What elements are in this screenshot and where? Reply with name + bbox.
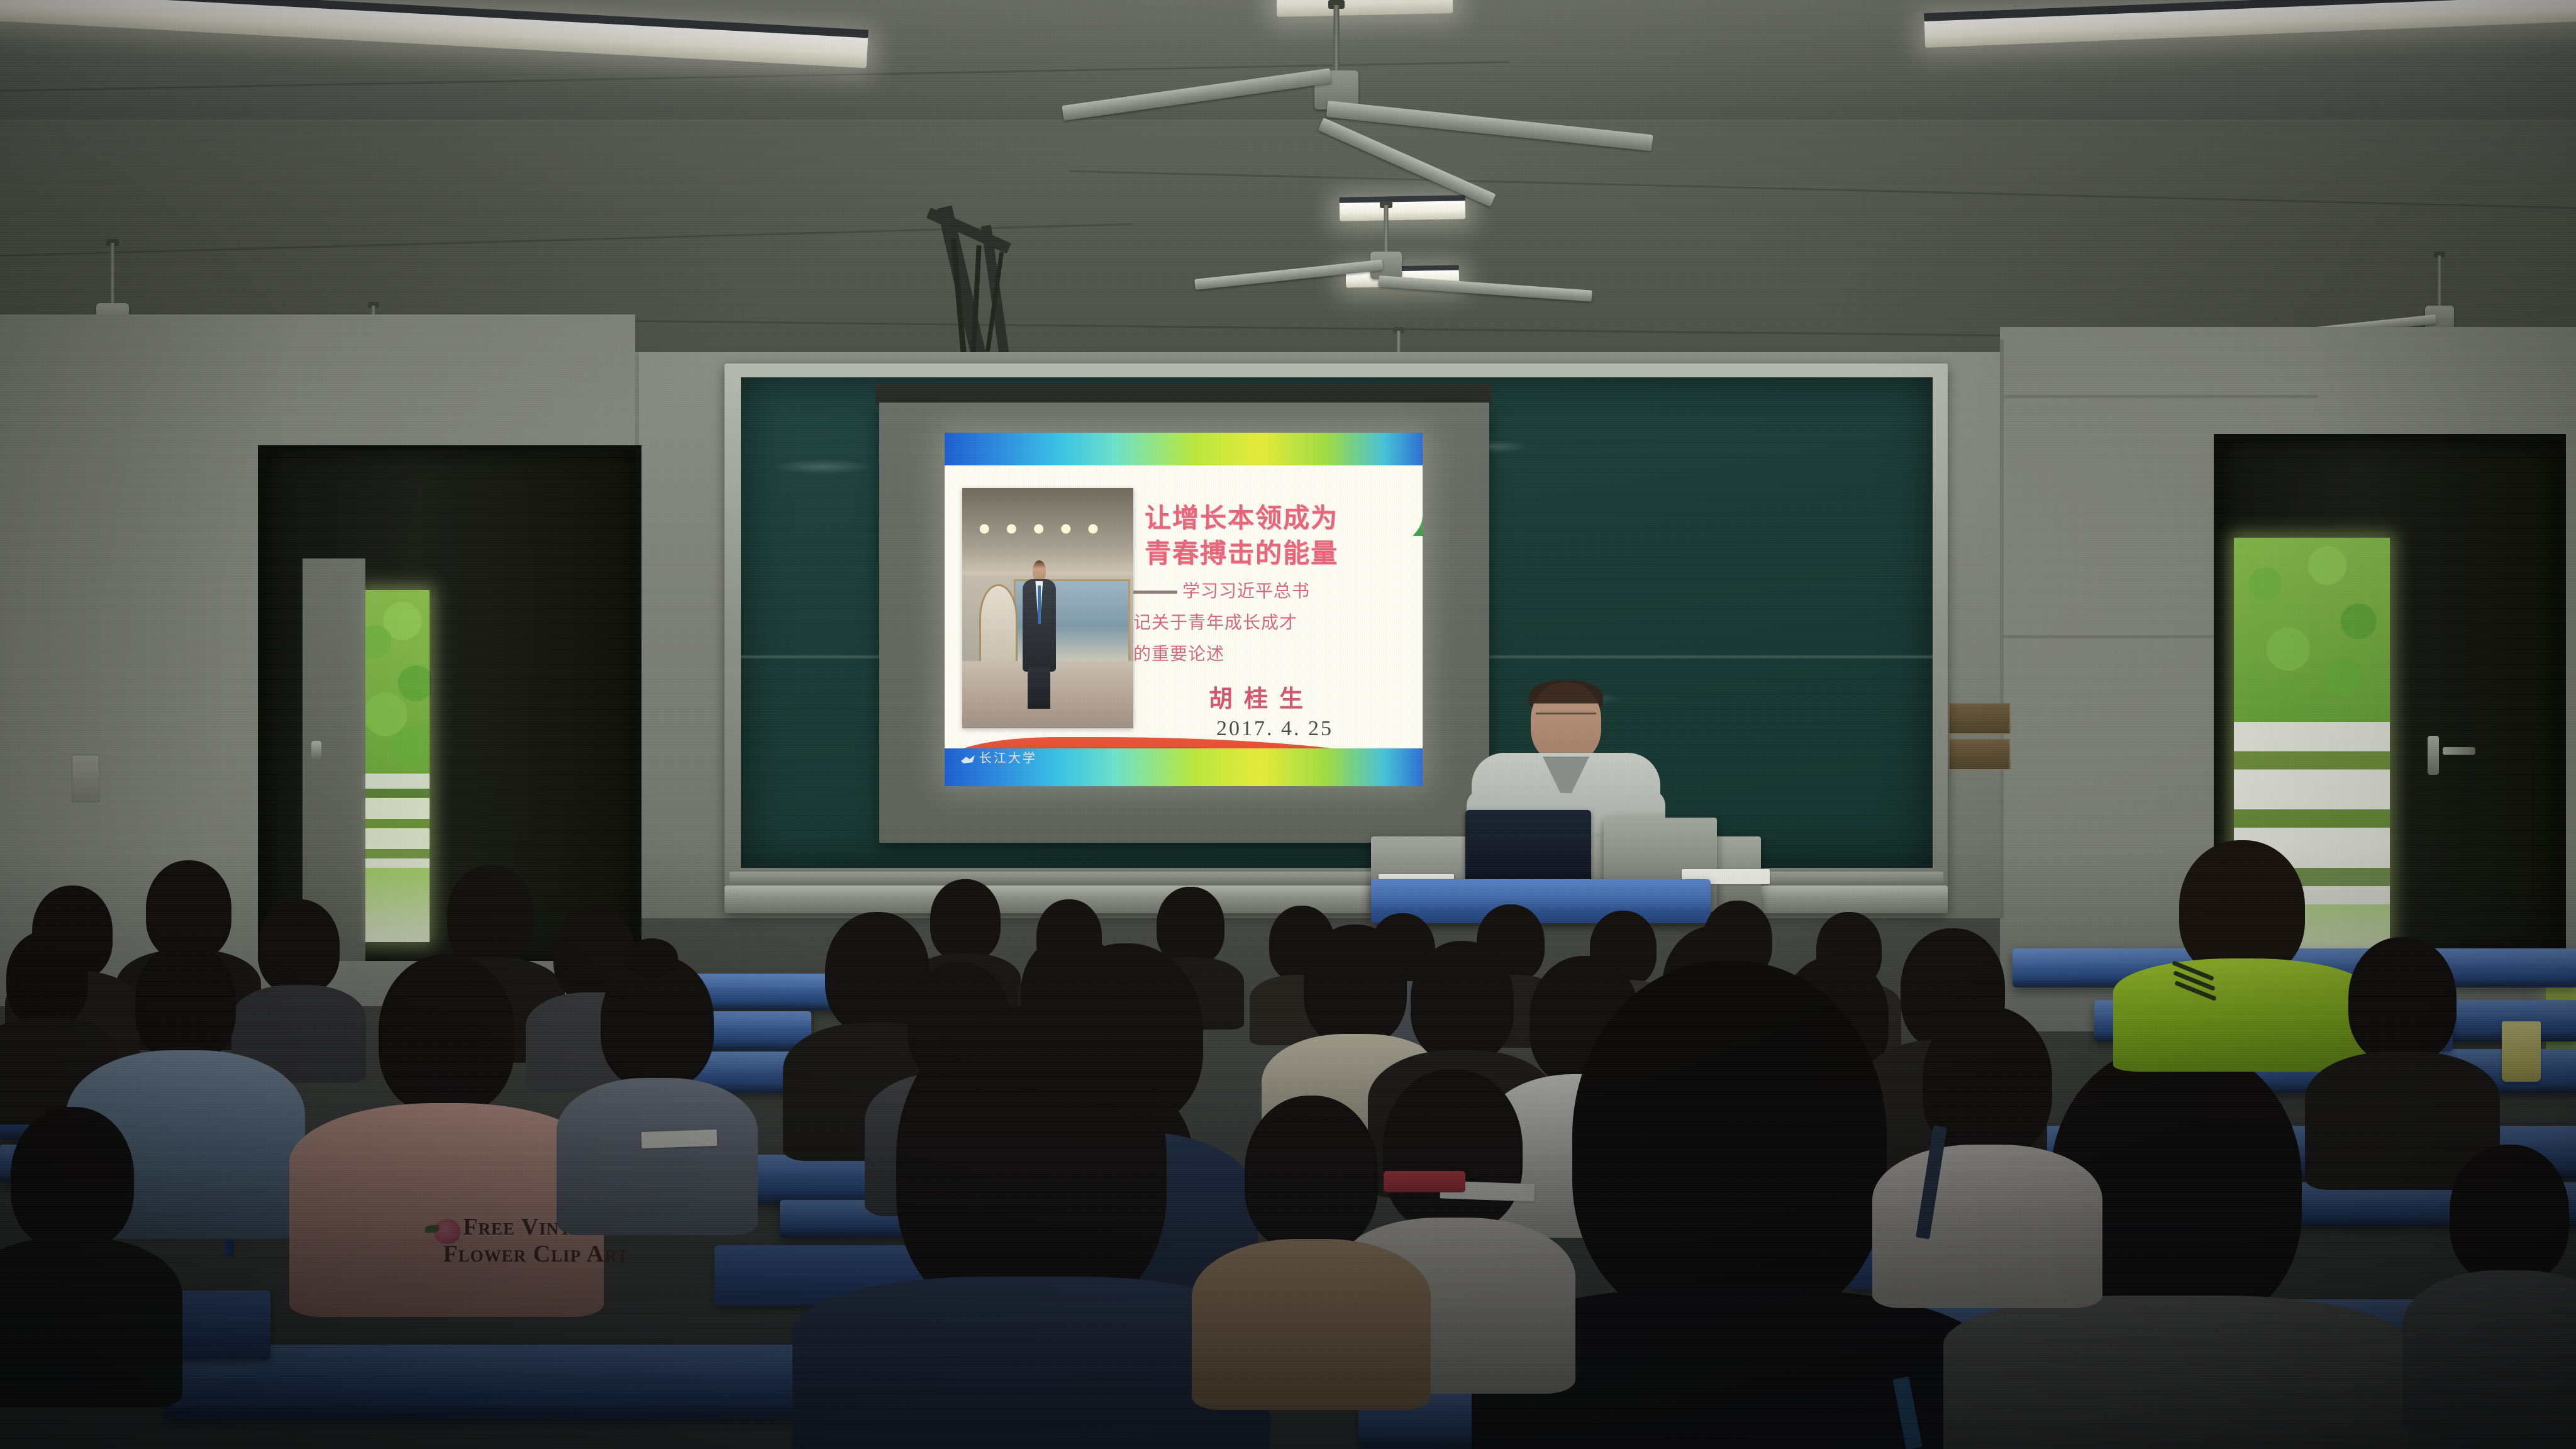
- slide-title-line1: 让增长本领成为: [1145, 503, 1338, 534]
- door-handle-icon[interactable]: [2428, 736, 2439, 775]
- em-dash-rule: [1133, 591, 1177, 594]
- slide-photo-figure: [1020, 560, 1058, 709]
- presenter-laptop[interactable]: [1465, 810, 1591, 884]
- lecture-hall-photo: · · · ·: [0, 0, 2576, 1449]
- presentation-slide: 让增长本领成为 青春搏击的能量 ——学习习近平总书学习习近平总书 记关于青年成长…: [945, 433, 1423, 786]
- slide-date: 2017. 4. 25: [1216, 717, 1333, 741]
- slide-subtitle-line1: ——学习习近平总书学习习近平总书: [1133, 579, 1310, 604]
- student: [591, 956, 723, 1207]
- slide-author: 胡桂生: [1209, 679, 1314, 714]
- wall-plaque: [1948, 703, 2011, 735]
- glasses-icon: [1536, 713, 1596, 726]
- yellow-cup[interactable]: [2502, 1021, 2541, 1082]
- student-foreground: [1535, 961, 1924, 1449]
- student: [2340, 937, 2465, 1145]
- paper-on-desk: [641, 1130, 718, 1148]
- slide-subtitle-line3: 的重要论述: [1133, 641, 1224, 667]
- red-item-on-desk: [1384, 1171, 1465, 1192]
- slide-university-logo: 长江大学: [961, 748, 1037, 766]
- railing-outside-left: [362, 774, 430, 868]
- grey-sweatshirt: [1943, 1296, 2409, 1449]
- student: [252, 899, 346, 1057]
- student-green-hoodie: [2151, 840, 2333, 1048]
- slide-top-gradient-band: [945, 433, 1423, 470]
- slide-subtitle-line2: 记关于青年成长成才: [1133, 610, 1297, 635]
- student: [0, 931, 94, 1094]
- student: [2440, 1145, 2576, 1396]
- screen-roller[interactable]: [875, 384, 1492, 405]
- student-foreground: [855, 1006, 1207, 1449]
- wall-markings: · · · ·: [5, 742, 50, 757]
- university-mark-icon: [961, 755, 975, 763]
- wall-plaque: [1948, 739, 2011, 770]
- foliage-outside-left: [362, 590, 430, 797]
- slide-photo: [962, 488, 1133, 728]
- door-handle-icon[interactable]: [311, 741, 321, 760]
- foliage-outside-right: [2234, 538, 2390, 723]
- ceiling-light-tube: [1340, 200, 1465, 221]
- green-hoodie: [2113, 958, 2371, 1072]
- light-switch-plate[interactable]: [72, 755, 99, 802]
- student: [1233, 1096, 1390, 1379]
- slide-title-line2: 青春搏击的能量: [1145, 538, 1338, 569]
- door-lever-icon[interactable]: [2443, 747, 2475, 755]
- student: [0, 1107, 145, 1371]
